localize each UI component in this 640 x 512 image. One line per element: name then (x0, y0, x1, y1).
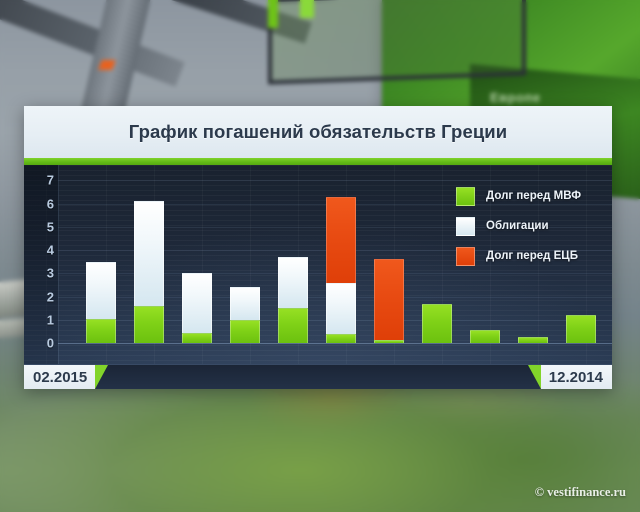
legend-swatch-ecb (456, 247, 475, 266)
footer-date-right: 12.2014 (541, 365, 612, 389)
plot-area: 01234567 Долг перед МВФОблигацииДолг пер… (24, 165, 612, 364)
bar-group[interactable] (230, 342, 260, 343)
bar-segment-imf[interactable] (278, 308, 308, 343)
bar-group[interactable] (374, 342, 404, 343)
bar-group[interactable] (134, 342, 164, 343)
legend-swatch-imf (456, 187, 475, 206)
bar-segment-imf[interactable] (518, 337, 548, 343)
bar-segment-imf[interactable] (86, 319, 116, 343)
bar-segment-bonds[interactable] (326, 283, 356, 334)
header-accent-rule (24, 158, 612, 165)
background-accent (268, 0, 278, 28)
bar-segment-bonds[interactable] (182, 273, 212, 332)
background-accent (300, 0, 314, 18)
bar-segment-bonds[interactable] (230, 287, 260, 320)
bar-segment-imf[interactable] (326, 334, 356, 343)
background-green-panel-text: Европе (490, 90, 541, 105)
page-title: График погашений обязательств Греции (129, 121, 508, 143)
bar-segment-imf[interactable] (566, 315, 596, 343)
bar-segment-imf[interactable] (470, 330, 500, 343)
bar-segment-imf[interactable] (134, 306, 164, 343)
watermark: © vestifinance.ru (535, 485, 626, 500)
panel-header: График погашений обязательств Греции (24, 106, 612, 158)
bar-group[interactable] (182, 342, 212, 343)
legend-item-imf[interactable]: Долг перед МВФ (456, 181, 581, 211)
bar-group[interactable] (86, 342, 116, 343)
bar-segment-bonds[interactable] (134, 201, 164, 306)
bar-group[interactable] (422, 342, 452, 343)
bar-segment-imf[interactable] (182, 333, 212, 343)
bar-group[interactable] (470, 342, 500, 343)
legend-label-bonds: Облигации (486, 220, 549, 232)
footer-date-left: 02.2015 (24, 365, 95, 389)
bar-group[interactable] (326, 342, 356, 343)
bar-segment-imf[interactable] (374, 340, 404, 343)
bar-group[interactable] (518, 342, 548, 343)
bar-segment-imf[interactable] (422, 304, 452, 344)
tab-notch-icon (528, 365, 541, 389)
legend-swatch-bonds (456, 217, 475, 236)
bar-segment-bonds[interactable] (278, 257, 308, 308)
legend-item-bonds[interactable]: Облигации (456, 211, 581, 241)
chart-panel: График погашений обязательств Греции 012… (24, 106, 612, 388)
footer-date-right-label: 12.2014 (549, 369, 603, 386)
bar-segment-ecb[interactable] (326, 197, 356, 283)
legend-item-ecb[interactable]: Долг перед ЕЦБ (456, 241, 581, 271)
bar-segment-imf[interactable] (230, 320, 260, 343)
bar-segment-ecb[interactable] (374, 259, 404, 340)
bar-group[interactable] (566, 342, 596, 343)
bar-segment-bonds[interactable] (86, 262, 116, 319)
chart-legend: Долг перед МВФОблигацииДолг перед ЕЦБ (456, 181, 581, 271)
legend-label-ecb: Долг перед ЕЦБ (486, 250, 578, 262)
footer-date-left-label: 02.2015 (33, 369, 87, 386)
legend-label-imf: Долг перед МВФ (486, 190, 581, 202)
bar-group[interactable] (278, 342, 308, 343)
panel-footer: 02.2015 12.2014 (24, 364, 612, 389)
tab-notch-icon (95, 365, 108, 389)
